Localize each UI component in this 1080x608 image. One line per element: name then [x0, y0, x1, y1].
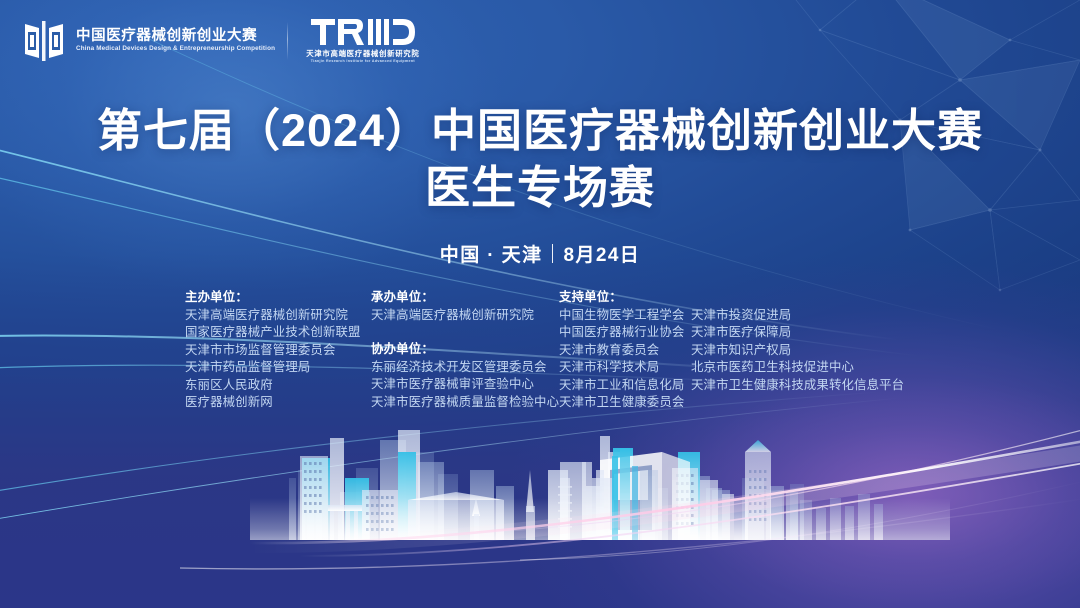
organizer-item: 天津市工业和信息化局	[559, 377, 691, 395]
competition-logo-text: 中国医疗器械创新创业大赛 China Medical Devices Desig…	[76, 29, 271, 52]
organizer-item: 天津市医疗保障局	[691, 324, 901, 342]
door-logo-mark	[22, 18, 68, 64]
competition-logo: 中国医疗器械创新创业大赛 China Medical Devices Desig…	[22, 18, 271, 64]
organizer-heading: 支持单位：	[559, 289, 691, 307]
organizer-column-support-continued: 天津市投资促进局 天津市医疗保障局 天津市知识产权局 北京市医药卫生科技促进中心…	[691, 289, 901, 394]
organizer-heading: 协办单位：	[371, 341, 559, 359]
organizer-heading: 承办单位：	[371, 289, 559, 307]
organizer-item: 天津市市场监督管理委员会	[185, 342, 371, 360]
organizer-item: 天津市教育委员会	[559, 342, 691, 360]
organizer-item: 天津市科学技术局	[559, 359, 691, 377]
organizer-item: 天津高端医疗器械创新研究院	[185, 307, 371, 325]
institute-name-en: Tianjin Research Institute for Advanced …	[311, 60, 415, 64]
page-title-line1: 第七届（2024）中国医疗器械创新创业大赛	[0, 104, 1080, 157]
organizer-columns: 主办单位： 天津高端医疗器械创新研究院 国家医疗器械产业技术创新联盟 天津市市场…	[185, 289, 901, 412]
competition-name-en: China Medical Devices Design & Entrepren…	[76, 46, 275, 52]
logo-divider	[287, 22, 288, 60]
organizer-item: 天津市卫生健康委员会	[559, 394, 691, 412]
page-title-line2: 医生专场赛	[0, 161, 1080, 214]
event-date: 8月24日	[563, 240, 640, 267]
title-block: 第七届（2024）中国医疗器械创新创业大赛 医生专场赛 中国 · 天津 8月24…	[0, 104, 1080, 267]
institute-name-cn: 天津市高端医疗器械创新研究院	[306, 50, 419, 57]
organizer-item: 东丽经济技术开发区管理委员会	[371, 359, 559, 377]
organizer-item: 北京市医药卫生科技促进中心	[691, 359, 901, 377]
organizer-item: 东丽区人民政府	[185, 377, 371, 395]
organizer-item: 天津市知识产权局	[691, 342, 901, 360]
organizer-item: 国家医疗器械产业技术创新联盟	[185, 324, 371, 342]
organizer-item: 医疗器械创新网	[185, 394, 371, 412]
organizer-item: 天津高端医疗器械创新研究院	[371, 307, 559, 325]
organizer-item: 天津市药品监督管理局	[185, 359, 371, 377]
triid-wordmark-icon	[311, 17, 415, 47]
organizer-column-organizer: 承办单位： 天津高端医疗器械创新研究院 协办单位： 东丽经济技术开发区管理委员会…	[371, 289, 559, 411]
organizer-item: 中国生物医学工程学会	[559, 307, 691, 325]
column-spacer	[371, 324, 559, 341]
event-poster: 中国医疗器械创新创业大赛 China Medical Devices Desig…	[0, 0, 1080, 608]
organizer-heading: 主办单位：	[185, 289, 371, 307]
organizer-column-host: 主办单位： 天津高端医疗器械创新研究院 国家医疗器械产业技术创新联盟 天津市市场…	[185, 289, 371, 412]
header-logo-bar: 中国医疗器械创新创业大赛 China Medical Devices Desig…	[22, 17, 419, 64]
organizer-item: 中国医疗器械行业协会	[559, 324, 691, 342]
date-separator	[552, 244, 553, 263]
organizer-item: 天津市医疗器械审评查验中心	[371, 376, 559, 394]
organizer-column-support: 支持单位： 中国生物医学工程学会 中国医疗器械行业协会 天津市教育委员会 天津市…	[559, 289, 691, 412]
event-location: 中国 · 天津	[440, 240, 543, 267]
organizer-item: 天津市投资促进局	[691, 307, 901, 325]
institute-logo: 天津市高端医疗器械创新研究院 Tianjin Research Institut…	[304, 17, 419, 64]
organizer-item: 天津市卫生健康科技成果转化信息平台	[691, 377, 901, 395]
competition-name-cn: 中国医疗器械创新创业大赛	[76, 29, 271, 44]
organizer-item: 天津市医疗器械质量监督检验中心	[371, 394, 559, 412]
event-date-line: 中国 · 天津 8月24日	[0, 240, 1080, 267]
